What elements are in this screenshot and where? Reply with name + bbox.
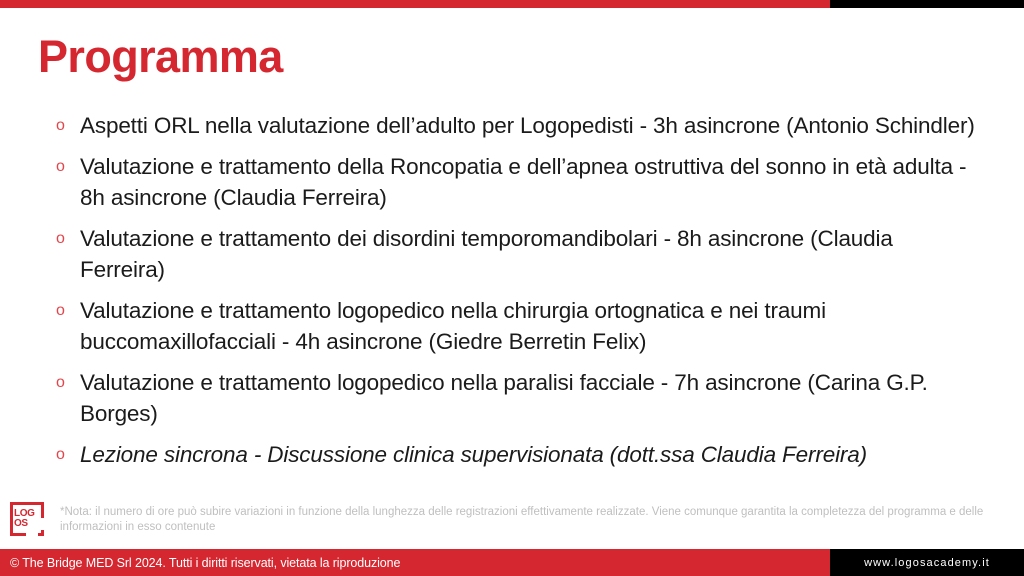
top-bar-black-segment	[830, 0, 1024, 8]
page-title: Programma	[38, 33, 283, 80]
footnote-row: LOG OS *Nota: il numero di ore può subir…	[0, 500, 1024, 546]
footer-bar: © The Bridge MED Srl 2024. Tutti i dirit…	[0, 549, 1024, 576]
list-item-label: Lezione sincrona - Discussione clinica s…	[80, 439, 982, 470]
list-item: o Valutazione e trattamento della Roncop…	[52, 151, 982, 213]
list-item-label: Valutazione e trattamento logopedico nel…	[80, 295, 982, 357]
bullet-circle-icon: o	[52, 367, 80, 398]
list-item: o Valutazione e trattamento dei disordin…	[52, 223, 982, 285]
bullet-circle-icon: o	[52, 151, 80, 182]
list-item: o Valutazione e trattamento logopedico n…	[52, 295, 982, 357]
footer-black-segment: www.logosacademy.it	[830, 549, 1024, 576]
list-item-label: Valutazione e trattamento logopedico nel…	[80, 367, 982, 429]
bullet-circle-icon: o	[52, 439, 80, 470]
website-url: www.logosacademy.it	[864, 557, 990, 569]
footnote-text: *Nota: il numero di ore può subire varia…	[60, 505, 990, 535]
logo-line-2: OS	[14, 519, 28, 530]
logos-logo-icon: LOG OS	[10, 502, 44, 536]
footer-red-segment: © The Bridge MED Srl 2024. Tutti i dirit…	[0, 549, 830, 576]
copyright-text: © The Bridge MED Srl 2024. Tutti i dirit…	[0, 556, 400, 570]
top-accent-bar	[0, 0, 1024, 8]
logo-notch-bottom	[26, 532, 38, 537]
list-item: o Lezione sincrona - Discussione clinica…	[52, 439, 982, 470]
list-item-label: Valutazione e trattamento della Roncopat…	[80, 151, 982, 213]
list-item-label: Aspetti ORL nella valutazione dell’adult…	[80, 110, 982, 141]
list-item: o Aspetti ORL nella valutazione dell’adu…	[52, 110, 982, 141]
bullet-circle-icon: o	[52, 295, 80, 326]
bullet-circle-icon: o	[52, 110, 80, 141]
program-list: o Aspetti ORL nella valutazione dell’adu…	[52, 110, 982, 480]
logo-wordmark: LOG OS	[14, 506, 40, 532]
list-item: o Valutazione e trattamento logopedico n…	[52, 367, 982, 429]
list-item-label: Valutazione e trattamento dei disordini …	[80, 223, 982, 285]
top-bar-red-segment	[0, 0, 830, 8]
bullet-circle-icon: o	[52, 223, 80, 254]
